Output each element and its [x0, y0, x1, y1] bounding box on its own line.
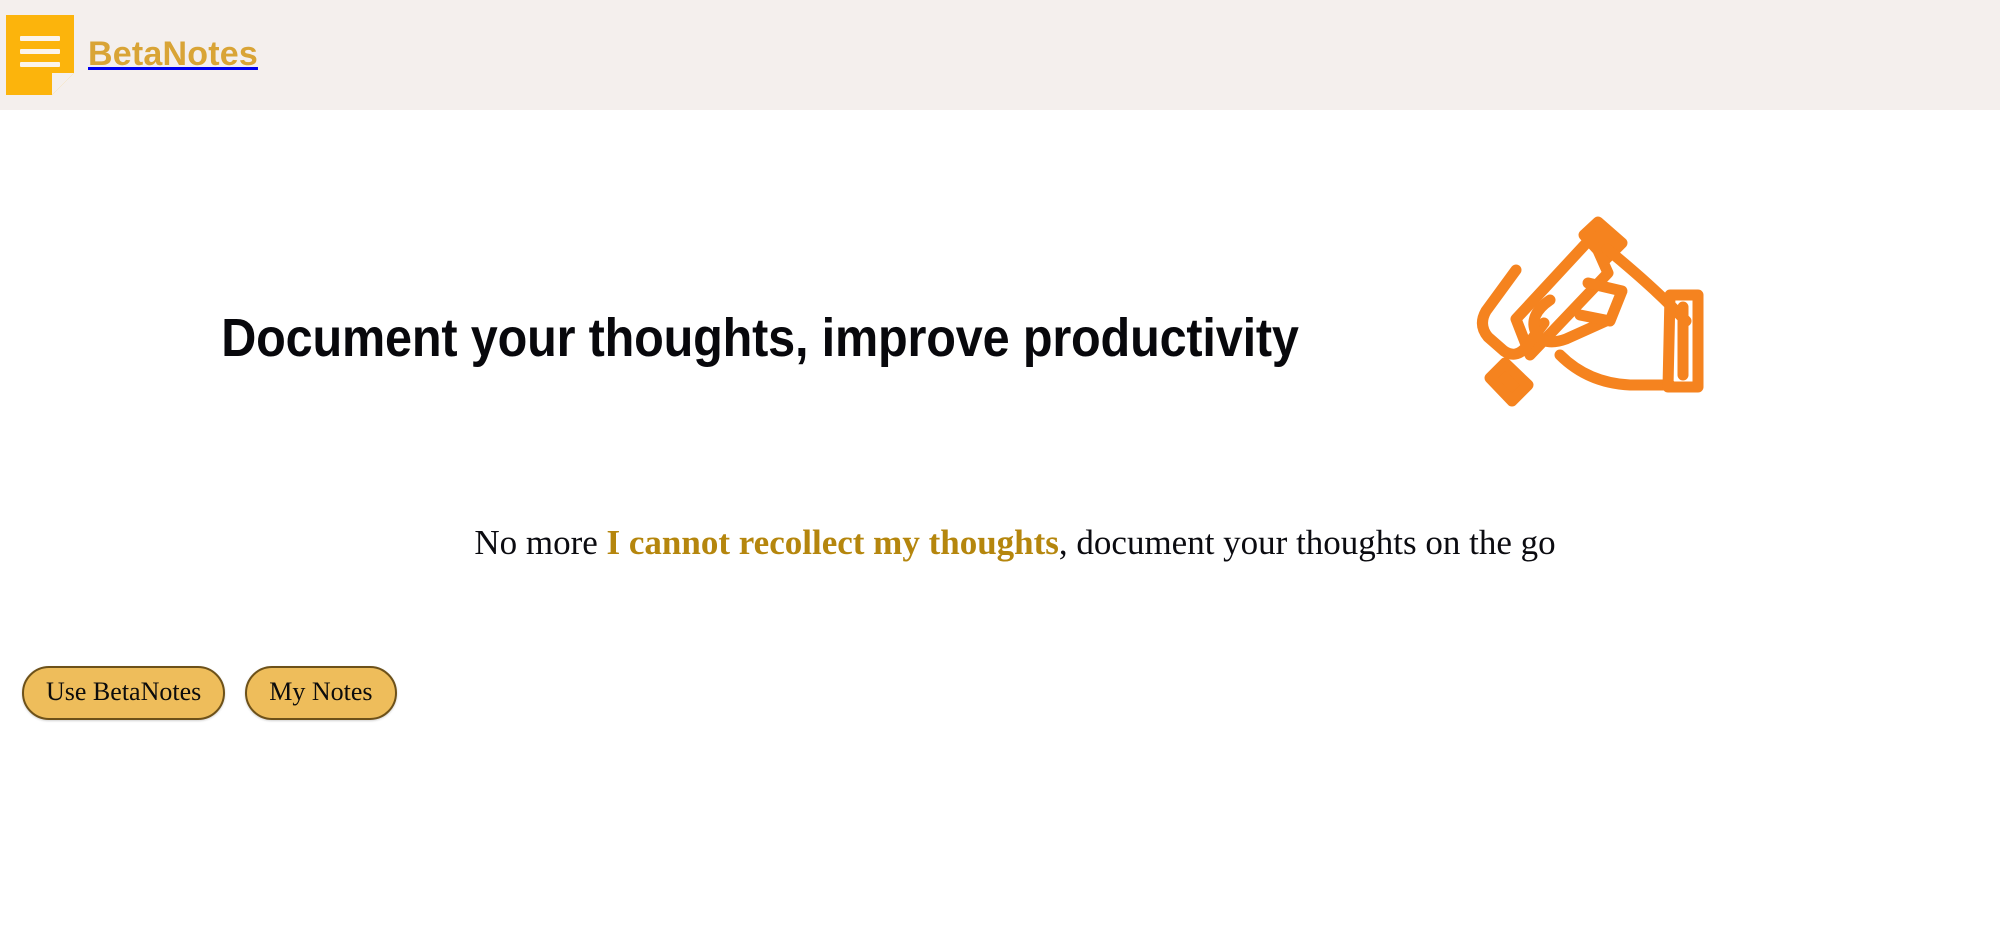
note-document-icon[interactable] [6, 15, 74, 95]
hero-subtitle-suffix: , document your thoughts on the go [1059, 523, 1556, 562]
my-notes-button[interactable]: My Notes [245, 666, 396, 720]
hero-subtitle-accent: I cannot recollect my thoughts [607, 523, 1059, 562]
hero-action-buttons: Use BetaNotes My Notes [22, 666, 397, 720]
hero-subtitle: No more I cannot recollect my thoughts, … [110, 522, 1920, 564]
page-title: Document your thoughts, improve producti… [175, 306, 1345, 370]
hero-heading-line-1: Document your thoughts, improve [221, 308, 1009, 368]
use-betanotes-button[interactable]: Use BetaNotes [22, 666, 225, 720]
brand-name: BetaNotes [88, 37, 258, 73]
top-navbar: BetaNotes [0, 0, 2000, 110]
hero-heading-line-2: productivity [1023, 308, 1299, 368]
hand-holding-pencil-icon [1470, 215, 1705, 410]
brand-home-link[interactable]: BetaNotes [0, 0, 258, 110]
hero-subtitle-prefix: No more [474, 523, 606, 562]
hero-section: Document your thoughts, improve producti… [0, 110, 2000, 938]
